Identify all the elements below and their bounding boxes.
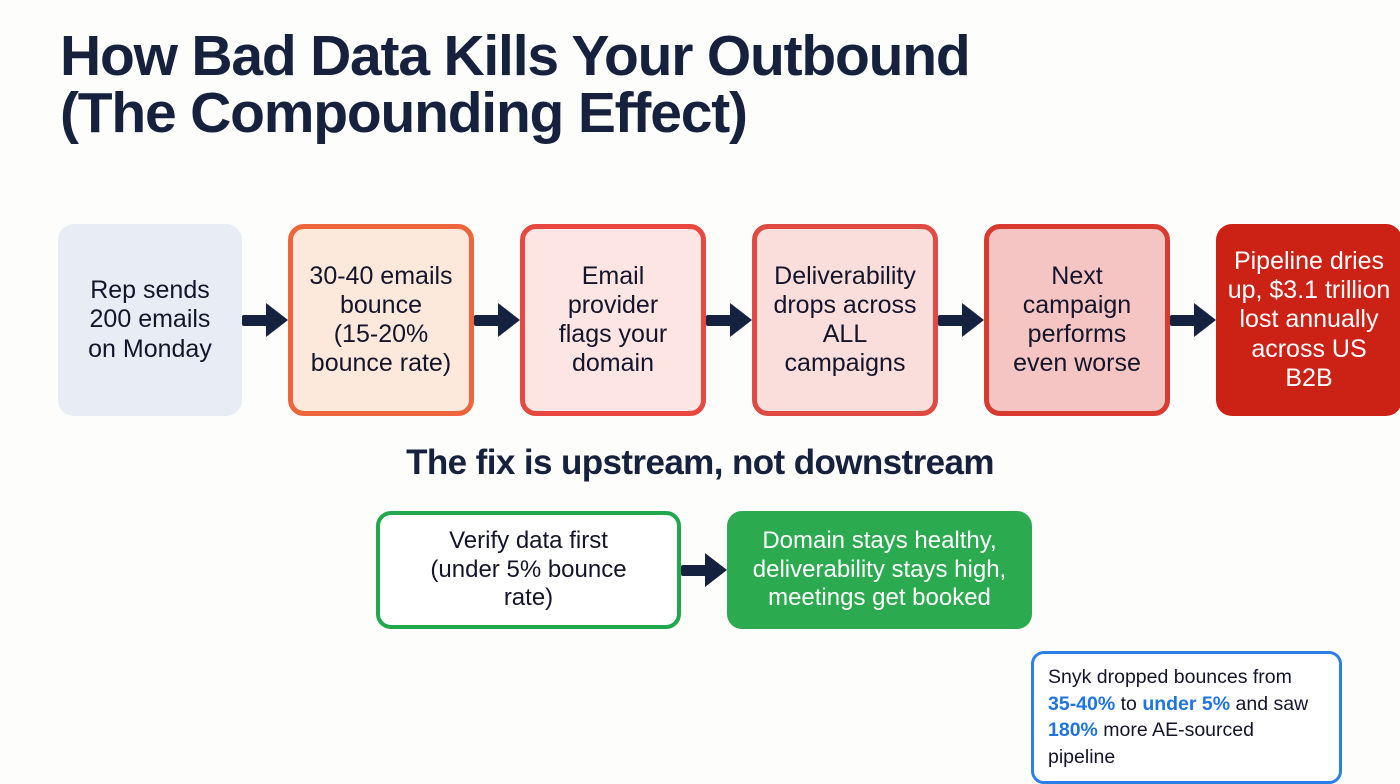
arrow-right-icon: [474, 303, 520, 337]
callout-text-part-3: and saw: [1230, 693, 1308, 715]
fix-arrow-cell: [681, 553, 727, 587]
arrow-right-icon: [1170, 303, 1216, 337]
flow-arrow-cell-2: [474, 303, 520, 337]
arrow-right-icon: [706, 303, 752, 337]
degradation-flow: Rep sends 200 emails on Monday 30-40 ema…: [58, 224, 1342, 416]
callout-stat-bounce-before: 35-40%: [1048, 693, 1115, 715]
fix-step-outcome: Domain stays healthy, deliverability sta…: [727, 511, 1032, 629]
flow-arrow-cell-4: [938, 303, 984, 337]
flow-step-4: Deliverability drops across ALL campaign…: [752, 224, 938, 416]
arrow-right-icon: [938, 303, 984, 337]
callout-text-part-2: to: [1115, 693, 1142, 715]
page-title: How Bad Data Kills Your Outbound (The Co…: [60, 28, 1060, 142]
callout-text-part-1: Snyk dropped bounces from: [1048, 666, 1292, 688]
callout-stat-pipeline-lift: 180%: [1048, 719, 1098, 741]
flow-step-3: Email provider flags your domain: [520, 224, 706, 416]
flow-arrow-cell-5: [1170, 303, 1216, 337]
flow-step-5: Next campaign performs even worse: [984, 224, 1170, 416]
case-study-callout: Snyk dropped bounces from 35-40% to unde…: [1031, 651, 1342, 784]
fix-flow: Verify data first (under 5% bounce rate)…: [376, 511, 1026, 629]
flow-arrow-cell-3: [706, 303, 752, 337]
arrow-right-icon: [681, 553, 727, 587]
arrow-right-icon: [242, 303, 288, 337]
flow-arrow-cell-1: [242, 303, 288, 337]
fix-step-verify-data: Verify data first (under 5% bounce rate): [376, 511, 681, 629]
callout-stat-bounce-after: under 5%: [1142, 693, 1230, 715]
flow-step-1: Rep sends 200 emails on Monday: [58, 224, 242, 416]
section-heading: The fix is upstream, not downstream: [0, 443, 1400, 483]
flow-step-2: 30-40 emails bounce (15-20% bounce rate): [288, 224, 474, 416]
flow-step-6: Pipeline dries up, $3.1 trillion lost an…: [1216, 224, 1400, 416]
